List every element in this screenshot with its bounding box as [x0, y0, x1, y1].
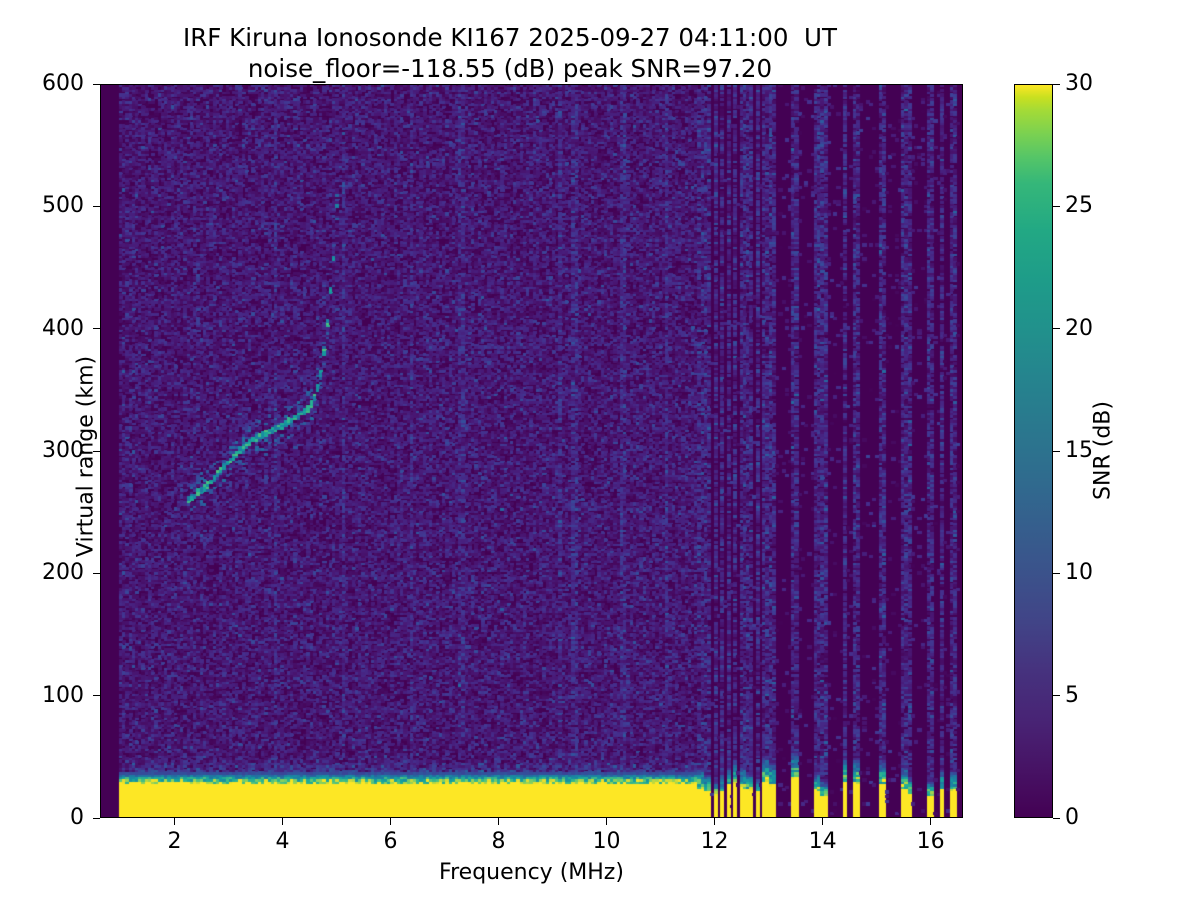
x-tick-label: 6 — [361, 830, 421, 854]
x-tick-mark — [714, 818, 715, 825]
title-line-2: noise_floor=-118.55 (dB) peak SNR=97.20 — [0, 53, 1020, 84]
x-tick-mark — [174, 818, 175, 825]
colorbar-gradient — [1014, 84, 1053, 818]
y-tick-mark — [93, 84, 100, 85]
ionogram-figure: IRF Kiruna Ionosonde KI167 2025-09-27 04… — [0, 0, 1200, 900]
x-tick-label: 8 — [469, 830, 529, 854]
x-tick-label: 12 — [685, 830, 745, 854]
colorbar-container: SNR (dB) 051015202530 — [1014, 84, 1053, 818]
x-axis-label: Frequency (MHz) — [100, 860, 963, 885]
colorbar-tick-label: 20 — [1065, 318, 1093, 340]
x-tick-mark — [498, 818, 499, 825]
y-tick-label: 500 — [0, 195, 84, 217]
x-tick-label: 2 — [145, 830, 205, 854]
y-tick-label: 300 — [0, 440, 84, 462]
colorbar-tick-mark — [1053, 206, 1060, 207]
colorbar-tick-mark — [1053, 818, 1060, 819]
x-tick-mark — [282, 818, 283, 825]
x-tick-mark — [390, 818, 391, 825]
y-tick-label: 200 — [0, 562, 84, 584]
x-tick-label: 4 — [253, 830, 313, 854]
x-tick-mark — [822, 818, 823, 825]
colorbar-tick-label: 25 — [1065, 195, 1093, 217]
colorbar-tick-mark — [1053, 695, 1060, 696]
colorbar-tick-mark — [1053, 573, 1060, 574]
y-tick-label: 400 — [0, 318, 84, 340]
figure-title: IRF Kiruna Ionosonde KI167 2025-09-27 04… — [0, 22, 1020, 85]
y-tick-label: 100 — [0, 685, 84, 707]
y-tick-label: 0 — [0, 807, 84, 829]
colorbar-tick-label: 30 — [1065, 73, 1093, 95]
ionogram-heatmap — [101, 85, 962, 817]
title-line-1: IRF Kiruna Ionosonde KI167 2025-09-27 04… — [0, 22, 1020, 53]
x-tick-label: 14 — [793, 830, 853, 854]
plot-area[interactable] — [100, 84, 963, 818]
y-tick-label: 600 — [0, 73, 84, 95]
x-tick-mark — [930, 818, 931, 825]
colorbar-tick-mark — [1053, 328, 1060, 329]
x-tick-label: 10 — [577, 830, 637, 854]
colorbar-label: SNR (dB) — [1091, 84, 1116, 818]
x-tick-label: 16 — [901, 830, 961, 854]
y-axis-label: Virtual range (km) — [74, 87, 99, 827]
colorbar-tick-label: 0 — [1065, 807, 1079, 829]
colorbar-tick-label: 15 — [1065, 440, 1093, 462]
colorbar-tick-mark — [1053, 84, 1060, 85]
colorbar-tick-label: 10 — [1065, 562, 1093, 584]
colorbar-tick-mark — [1053, 451, 1060, 452]
colorbar-tick-label: 5 — [1065, 685, 1079, 707]
x-tick-mark — [606, 818, 607, 825]
